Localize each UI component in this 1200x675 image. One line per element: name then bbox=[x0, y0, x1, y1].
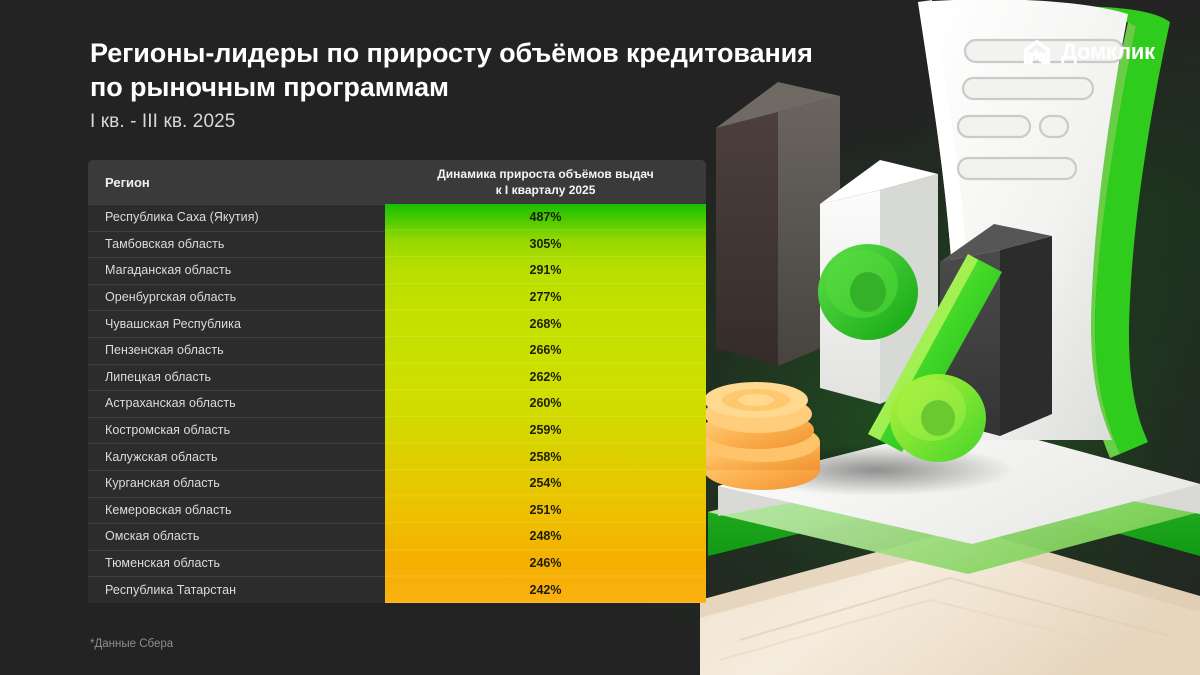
cell-value: 251% bbox=[385, 497, 706, 524]
cell-value: 259% bbox=[385, 417, 706, 444]
cell-region: Калужская область bbox=[88, 443, 385, 470]
percent-ring-upper bbox=[818, 244, 918, 340]
page-subtitle: I кв. - III кв. 2025 bbox=[90, 111, 235, 133]
wood-base bbox=[700, 528, 1200, 675]
cell-region: Республика Саха (Якутия) bbox=[88, 204, 385, 231]
page-title: Регионы-лидеры по приросту объёмов креди… bbox=[90, 36, 850, 104]
table-row: Чувашская Республика268% bbox=[88, 310, 706, 337]
cell-region: Республика Татарстан bbox=[88, 576, 385, 603]
table-row: Республика Татарстан242% bbox=[88, 576, 706, 603]
cell-value: 242% bbox=[385, 576, 706, 603]
cell-region: Омская область bbox=[88, 523, 385, 550]
table-row: Тюменская область246% bbox=[88, 550, 706, 577]
cell-region: Костромская область bbox=[88, 417, 385, 444]
cell-region: Пензенская область bbox=[88, 337, 385, 364]
green-accent-curve bbox=[1000, 6, 1170, 458]
bar-white bbox=[820, 160, 938, 404]
column-header-metric-line2: к I кварталу 2025 bbox=[395, 182, 696, 198]
bar-dark-gray bbox=[940, 224, 1052, 436]
cell-region: Кемеровская область bbox=[88, 497, 385, 524]
cell-value: 258% bbox=[385, 443, 706, 470]
cell-region: Тамбовская область bbox=[88, 231, 385, 258]
regions-table: Регион Динамика прироста объёмов выдач к… bbox=[88, 160, 706, 603]
house-cursor-icon bbox=[1022, 37, 1052, 67]
cell-value: 266% bbox=[385, 337, 706, 364]
column-header-region: Регион bbox=[88, 175, 385, 190]
cell-value: 305% bbox=[385, 231, 706, 258]
table-row: Липецкая область262% bbox=[88, 364, 706, 391]
cell-value: 262% bbox=[385, 364, 706, 391]
cell-region: Оренбургская область bbox=[88, 284, 385, 311]
table-header-row: Регион Динамика прироста объёмов выдач к… bbox=[88, 160, 706, 204]
cell-region: Курганская область bbox=[88, 470, 385, 497]
table-row: Тамбовская область305% bbox=[88, 231, 706, 258]
white-platform bbox=[718, 422, 1200, 544]
table-row: Костромская область259% bbox=[88, 417, 706, 444]
table-row: Пензенская область266% bbox=[88, 337, 706, 364]
coin-stack bbox=[702, 382, 820, 490]
cell-value: 246% bbox=[385, 550, 706, 577]
table-row: Кемеровская область251% bbox=[88, 497, 706, 524]
green-slab bbox=[708, 446, 1200, 574]
brand-logo[interactable]: Домклик bbox=[1022, 37, 1155, 67]
cell-region: Астраханская область bbox=[88, 390, 385, 417]
cell-region: Липецкая область bbox=[88, 364, 385, 391]
cell-value: 268% bbox=[385, 310, 706, 337]
cell-value: 248% bbox=[385, 523, 706, 550]
table-row: Оренбургская область277% bbox=[88, 284, 706, 311]
table-row: Курганская область254% bbox=[88, 470, 706, 497]
table-row: Омская область248% bbox=[88, 523, 706, 550]
table-row: Астраханская область260% bbox=[88, 390, 706, 417]
brand-name: Домклик bbox=[1061, 39, 1155, 65]
table-row: Магаданская область291% bbox=[88, 257, 706, 284]
cell-value: 260% bbox=[385, 390, 706, 417]
column-header-metric-line1: Динамика прироста объёмов выдач bbox=[395, 166, 696, 182]
cell-value: 254% bbox=[385, 470, 706, 497]
column-header-metric: Динамика прироста объёмов выдач к I квар… bbox=[385, 166, 706, 198]
table-body: Республика Саха (Якутия)487%Тамбовская о… bbox=[88, 204, 706, 603]
percent-symbol bbox=[818, 244, 1002, 462]
cell-value: 277% bbox=[385, 284, 706, 311]
cell-region: Тюменская область bbox=[88, 550, 385, 577]
footnote: *Данные Сбера bbox=[90, 638, 173, 650]
cell-value: 487% bbox=[385, 204, 706, 231]
table-row: Республика Саха (Якутия)487% bbox=[88, 204, 706, 231]
cell-region: Чувашская Республика bbox=[88, 310, 385, 337]
cell-value: 291% bbox=[385, 257, 706, 284]
bar-dark-brown bbox=[716, 82, 840, 366]
platform-shadow bbox=[735, 444, 1015, 496]
percent-ring-lower bbox=[890, 374, 986, 462]
table-row: Калужская область258% bbox=[88, 443, 706, 470]
cell-region: Магаданская область bbox=[88, 257, 385, 284]
